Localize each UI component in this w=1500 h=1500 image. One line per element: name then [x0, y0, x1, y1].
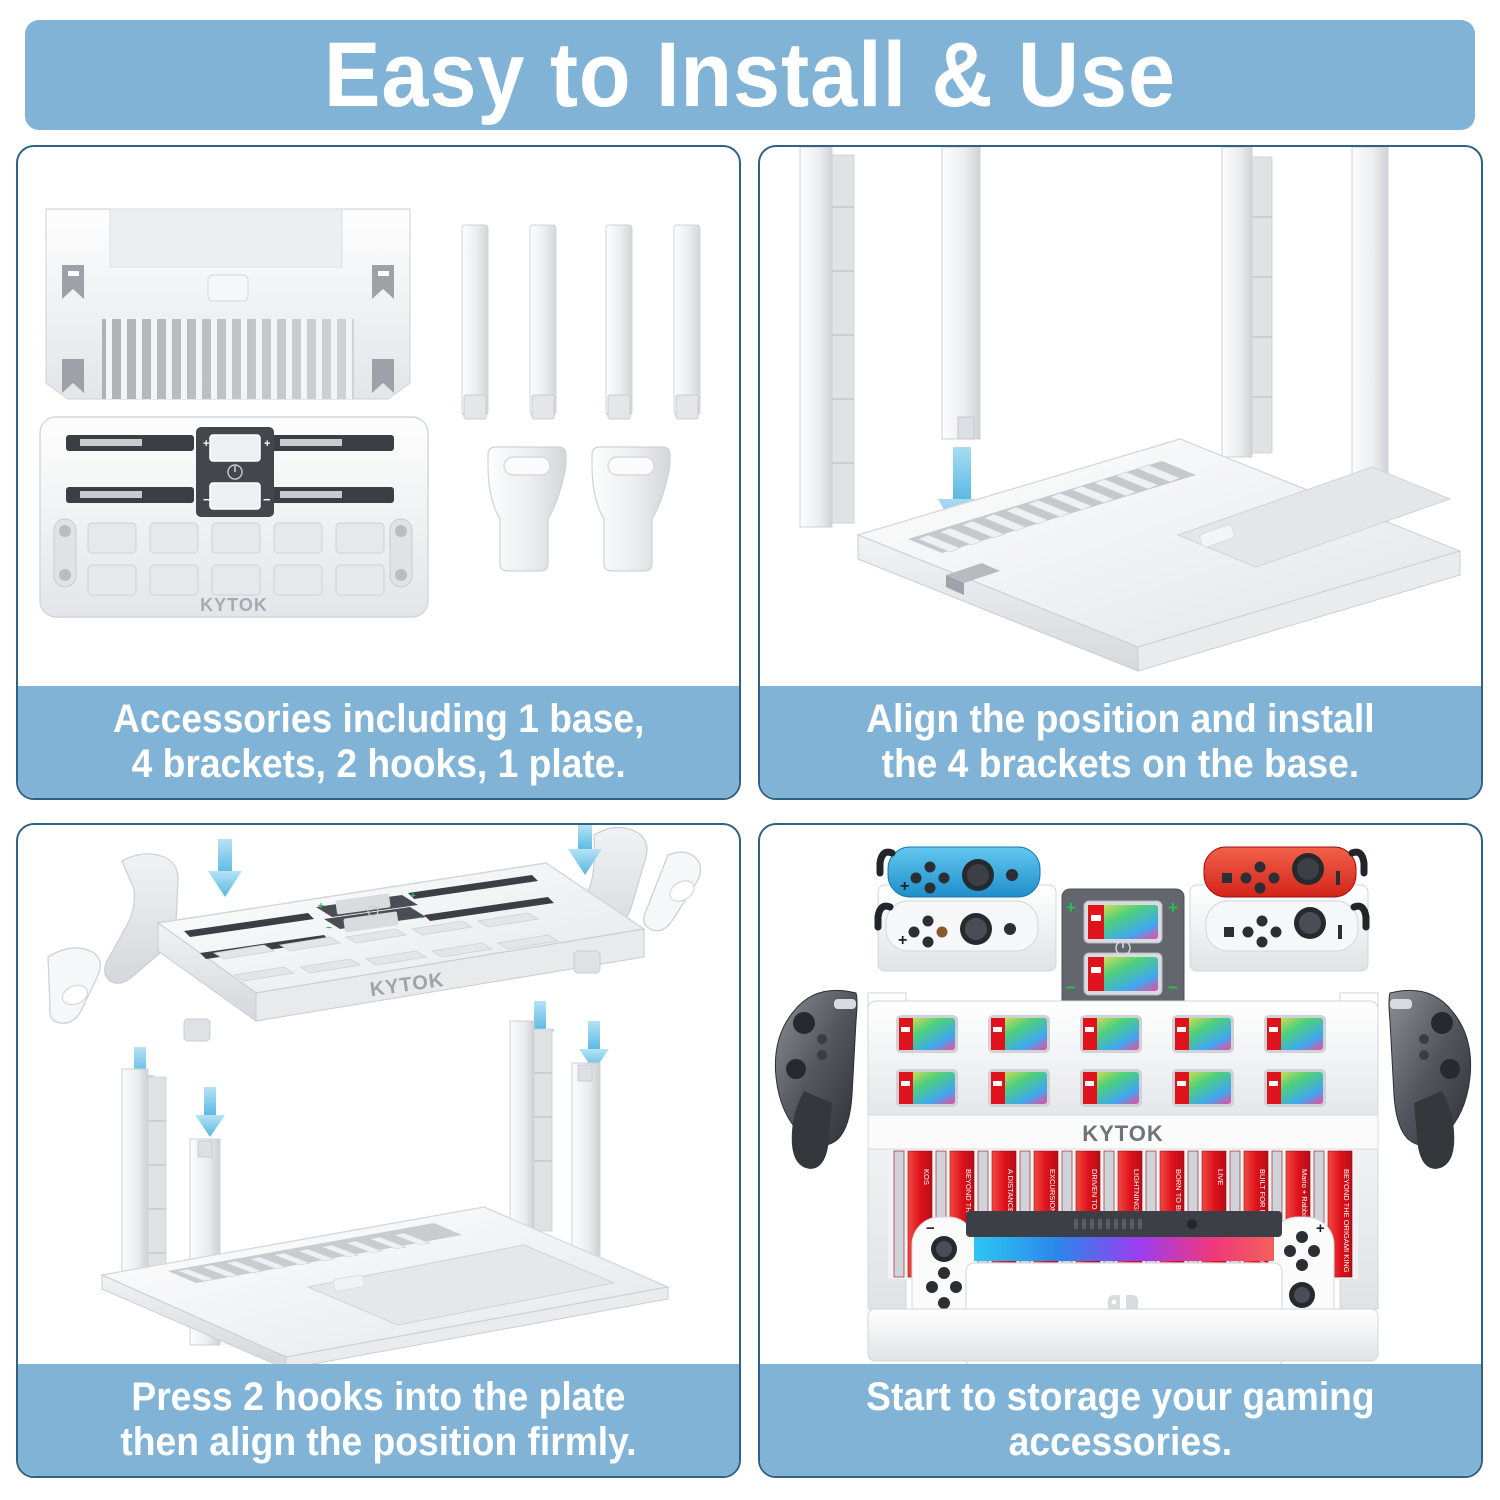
- svg-text:−: −: [326, 923, 332, 934]
- charger-plus-left: +: [1066, 898, 1076, 917]
- charger-card-bottom: [1084, 953, 1162, 995]
- bracket-back-left: [800, 147, 854, 527]
- center-charger-dock: + + − −: [1062, 889, 1184, 1007]
- charger-plus-right: +: [1168, 898, 1178, 917]
- white-joycon-right: [1206, 901, 1366, 951]
- step-panel-2: Align the position and install the 4 bra…: [758, 145, 1483, 800]
- red-joycon: [1204, 847, 1364, 897]
- step-panel-1: + + − −: [16, 145, 741, 800]
- plate-onto-posts-3d: ++ −−: [18, 825, 739, 1370]
- assembled-stand-loaded: + +: [760, 825, 1481, 1370]
- svg-text:LIVE: LIVE: [1216, 1169, 1225, 1185]
- panel-2-caption-bar: Align the position and install the 4 bra…: [760, 686, 1481, 798]
- post-back-left: [122, 1069, 166, 1283]
- bracket-back-right: [1222, 147, 1272, 457]
- header-banner: Easy to Install & Use: [25, 20, 1475, 130]
- svg-text:+: +: [900, 878, 909, 895]
- base-3d: [858, 439, 1460, 671]
- panel-1-caption-bar: Accessories including 1 base, 4 brackets…: [18, 686, 739, 798]
- plate-brand-label: KYTOK: [200, 595, 268, 615]
- charger-card-top: [1084, 901, 1162, 943]
- charger-minus-right: −: [1168, 978, 1178, 997]
- panel-2-caption-text: Align the position and install the 4 bra…: [866, 697, 1374, 787]
- plate-3d: ++ −−: [48, 827, 701, 1041]
- svg-text:+: +: [410, 891, 416, 902]
- pro-controller-right: [1389, 990, 1471, 1169]
- panel-4-caption-text: Start to storage your gaming accessories…: [866, 1375, 1374, 1465]
- step-panel-4: + +: [758, 823, 1483, 1478]
- svg-text:+: +: [1316, 1220, 1325, 1237]
- svg-text:−: −: [926, 1220, 935, 1237]
- base-slot-comb: [102, 319, 354, 399]
- svg-text:+: +: [264, 438, 270, 450]
- svg-text:+: +: [318, 901, 324, 912]
- panel-3-caption-bar: Press 2 hooks into the plate then align …: [18, 1364, 739, 1476]
- base-with-brackets-3d: [760, 147, 1481, 692]
- stand-brand-label: KYTOK: [1082, 1121, 1164, 1146]
- svg-text:−: −: [203, 492, 211, 507]
- svg-text:EXCURSION: EXCURSION: [1048, 1169, 1057, 1214]
- infographic-page: Easy to Install & Use: [0, 0, 1500, 1500]
- svg-text:−: −: [263, 492, 271, 507]
- part-base: [46, 209, 410, 399]
- svg-text:+: +: [203, 438, 209, 450]
- pro-controller-left: [775, 990, 857, 1169]
- page-title: Easy to Install & Use: [324, 29, 1176, 121]
- plate-charger-panel: + + − −: [196, 427, 274, 517]
- panel-1-caption-text: Accessories including 1 base, 4 brackets…: [113, 697, 644, 787]
- white-joycon-left: +: [878, 901, 1038, 951]
- post-back-right: [510, 1021, 552, 1231]
- svg-text:BEYOND THE ORIGAMI KING: BEYOND THE ORIGAMI KING: [1342, 1169, 1351, 1273]
- svg-text:LIGHTNINGS: LIGHTNINGS: [1132, 1169, 1141, 1215]
- bracket-front-left-inserting: [942, 147, 980, 439]
- panel-3-caption-text: Press 2 hooks into the plate then align …: [120, 1375, 636, 1465]
- part-brackets: [462, 225, 700, 419]
- charger-minus-left: −: [1066, 978, 1076, 997]
- panel-4-caption-bar: Start to storage your gaming accessories…: [760, 1364, 1481, 1476]
- part-hooks: [488, 447, 670, 571]
- step-panel-3: ++ −−: [16, 823, 741, 1478]
- part-plate: + + − −: [40, 417, 428, 617]
- blue-joycon: +: [880, 847, 1040, 897]
- accessories-exploded-view: + + − −: [18, 147, 739, 692]
- svg-text:+: +: [898, 932, 907, 949]
- svg-text:−: −: [418, 913, 424, 924]
- svg-text:KOS: KOS: [922, 1169, 931, 1185]
